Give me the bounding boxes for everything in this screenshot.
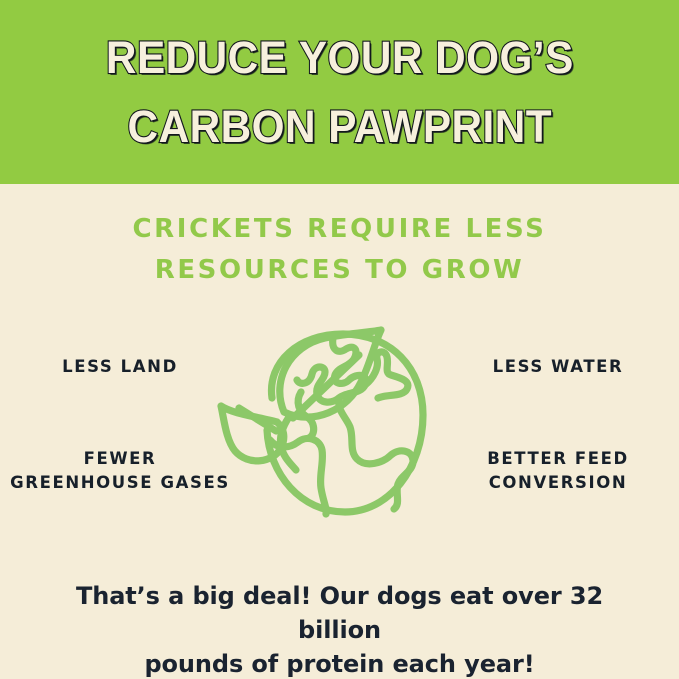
globe-with-sprout-icon [215, 318, 465, 528]
infographic-poster: REDUCE YOUR DOG’S CARBON PAWPRINT CRICKE… [0, 0, 679, 679]
footnote-line-1: That’s a big deal! Our dogs eat over 32 … [34, 579, 645, 647]
subtitle-line-2: RESOURCES TO GROW [0, 250, 679, 291]
header-banner: REDUCE YOUR DOG’S CARBON PAWPRINT [0, 0, 679, 184]
footnote: That’s a big deal! Our dogs eat over 32 … [34, 579, 645, 679]
benefit-label-better-feed-conversion: BETTER FEED CONVERSION [452, 447, 664, 495]
benefit-label-less-land: LESS LAND [14, 355, 226, 379]
subtitle: CRICKETS REQUIRE LESS RESOURCES TO GROW [0, 209, 679, 291]
continent-south [339, 398, 413, 509]
benefit-label-fewer-greenhouse-gases: FEWER GREENHOUSE GASES [6, 447, 234, 495]
footnote-line-2: pounds of protein each year! [34, 647, 645, 679]
headline-line-1: REDUCE YOUR DOG’S [106, 35, 574, 80]
globe-with-sprout-svg [215, 318, 465, 528]
benefit-label-less-water: LESS WATER [452, 355, 664, 379]
headline-line-2: CARBON PAWPRINT [127, 104, 552, 149]
subtitle-line-1: CRICKETS REQUIRE LESS [0, 209, 679, 250]
